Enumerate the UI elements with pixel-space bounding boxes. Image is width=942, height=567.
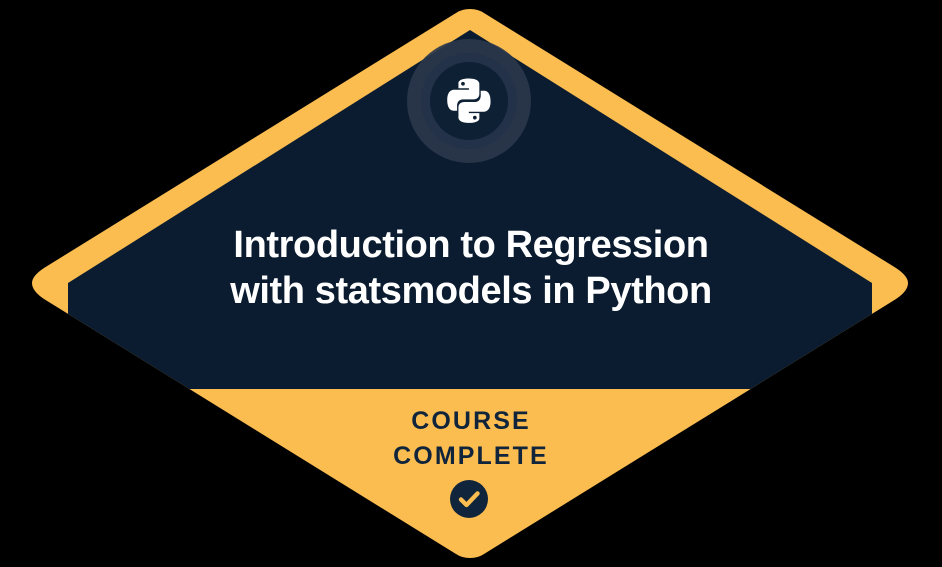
logo-ring-inner [430,62,508,140]
badge-inner-panel-group [68,30,872,389]
course-completion-badge: Introduction to Regression with statsmod… [0,0,942,567]
badge-graphic [0,0,942,567]
check-circle-disc [450,480,488,518]
check-circle-icon [450,480,488,518]
